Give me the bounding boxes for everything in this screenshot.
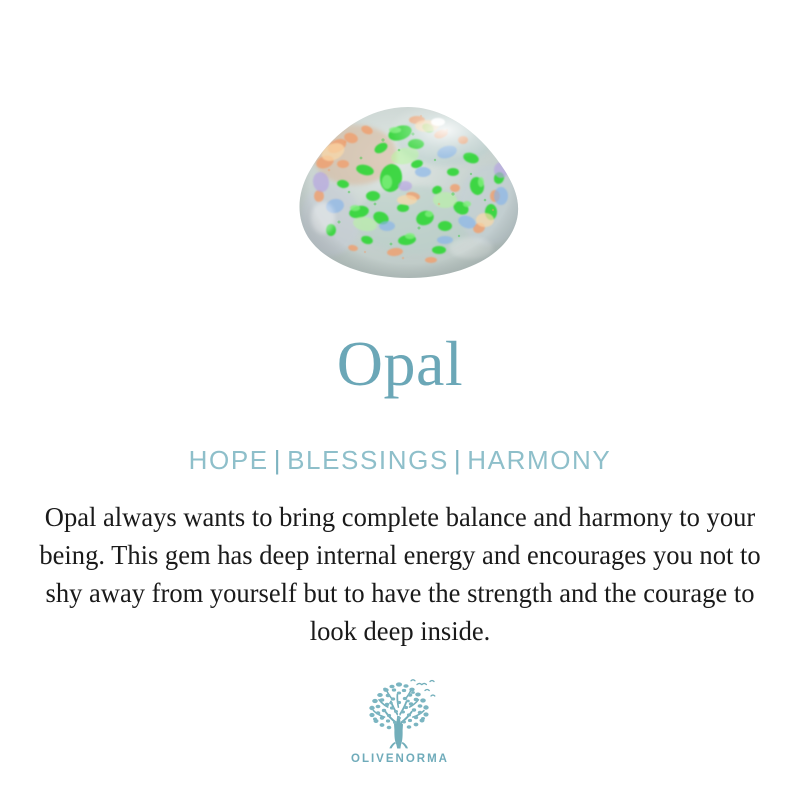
opal-gemstone-image (295, 100, 525, 285)
gemstone-info-card: Opal HOPE|BLESSINGS|HARMONY Opal always … (0, 0, 800, 800)
keyword-separator-1: | (269, 445, 287, 475)
tree-of-life-icon (361, 678, 439, 750)
page-title: Opal (0, 332, 800, 396)
brand-logo: OLIVENORMA (0, 678, 800, 765)
keyword-separator-2: | (449, 445, 467, 475)
keyword-blessings: BLESSINGS (287, 445, 449, 475)
keyword-harmony: HARMONY (467, 445, 611, 475)
description-text: Opal always wants to bring complete bala… (31, 498, 768, 650)
keyword-hope: HOPE (189, 445, 269, 475)
keyword-line: HOPE|BLESSINGS|HARMONY (0, 446, 800, 475)
brand-name: OLIVENORMA (0, 753, 800, 765)
